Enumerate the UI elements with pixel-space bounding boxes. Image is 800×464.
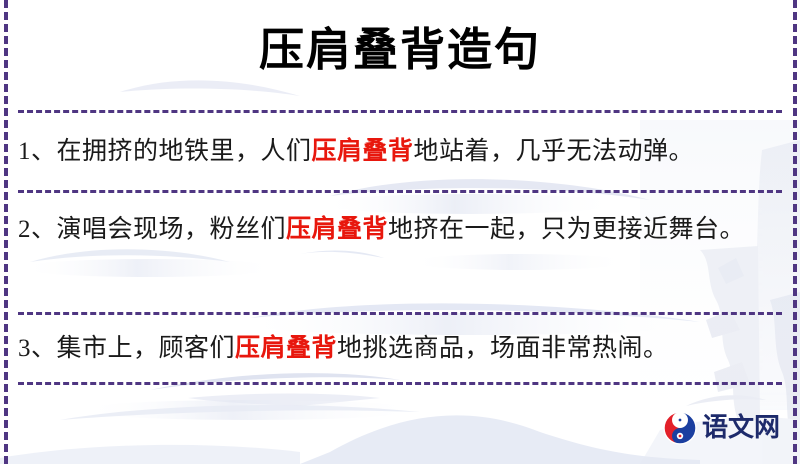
sentence-1-index: 1、 — [18, 138, 57, 165]
site-logo[interactable]: 语文网 — [663, 411, 780, 445]
divider-2 — [18, 190, 782, 193]
yin-yang-circle-icon — [663, 411, 697, 445]
divider-3 — [18, 312, 782, 315]
sentence-1-idiom: 压肩叠背 — [312, 138, 414, 165]
divider-1 — [18, 110, 782, 113]
sentence-3-idiom: 压肩叠背 — [235, 335, 337, 362]
sentence-3-index: 3、 — [18, 335, 57, 362]
sentence-3-text-after: 地挑选商品，场面非常热闹。 — [337, 335, 669, 362]
sentence-2-index: 2、 — [18, 216, 57, 243]
sentence-item-2: 2、演唱会现场，粉丝们压肩叠背地挤在一起，只为更接近舞台。 — [18, 208, 780, 251]
sentence-item-3: 3、集市上，顾客们压肩叠背地挑选商品，场面非常热闹。 — [18, 327, 780, 370]
sentence-2-idiom: 压肩叠背 — [286, 216, 388, 243]
site-logo-text: 语文网 — [702, 413, 780, 443]
sentence-3-text-before: 集市上，顾客们 — [57, 335, 236, 362]
worksheet-page: 压肩叠背造句 1、在拥挤的地铁里，人们压肩叠背地站着，几乎无法动弹。 2、演唱会… — [0, 0, 800, 464]
left-dashed-border — [4, 0, 8, 464]
content-area: 压肩叠背造句 1、在拥挤的地铁里，人们压肩叠背地站着，几乎无法动弹。 2、演唱会… — [0, 0, 800, 464]
sentence-2-text-after: 地挤在一起，只为更接近舞台。 — [388, 216, 745, 243]
sentence-2-text-before: 演唱会现场，粉丝们 — [57, 216, 287, 243]
page-title: 压肩叠背造句 — [0, 18, 800, 82]
sentence-item-1: 1、在拥挤的地铁里，人们压肩叠背地站着，几乎无法动弹。 — [18, 130, 780, 173]
right-dashed-border — [793, 0, 797, 464]
divider-4 — [18, 382, 782, 385]
sentence-1-text-before: 在拥挤的地铁里，人们 — [57, 138, 312, 165]
sentence-1-text-after: 地站着，几乎无法动弹。 — [414, 138, 695, 165]
